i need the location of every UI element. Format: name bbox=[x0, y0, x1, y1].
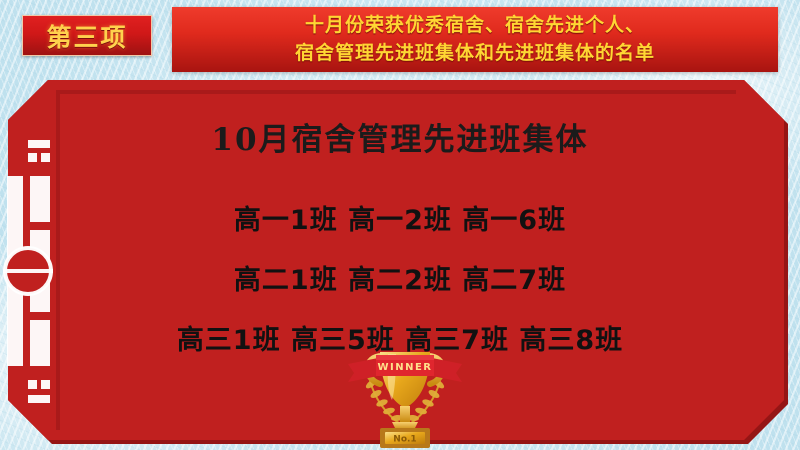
section-badge-label: 第三项 bbox=[46, 18, 127, 54]
trophy-icon: No.1 WINNER bbox=[330, 340, 480, 450]
trophy-plaque-label: No.1 bbox=[393, 435, 416, 445]
class-list: 高一1班 高一2班 高一6班 高二1班 高二2班 高二7班 高三1班 高三5班 … bbox=[62, 198, 738, 357]
header-title-line-2: 宿舍管理先进班集体和先进班集体的名单 bbox=[295, 40, 655, 68]
header-banner: 十月份荣获优秀宿舍、宿舍先进个人、 宿舍管理先进班集体和先进班集体的名单 bbox=[172, 7, 778, 72]
section-badge: 第三项 bbox=[22, 15, 152, 56]
class-row: 高二1班 高二2班 高二7班 bbox=[62, 258, 738, 297]
header-title-line-1: 十月份荣获优秀宿舍、宿舍先进个人、 bbox=[305, 12, 645, 40]
trophy-ribbon-label: WINNER bbox=[377, 362, 432, 373]
class-row: 高一1班 高一2班 高一6班 bbox=[62, 198, 738, 237]
slide-root: 第三项 十月份荣获优秀宿舍、宿舍先进个人、 宿舍管理先进班集体和先进班集体的名单 bbox=[0, 0, 800, 450]
content-heading: 10月宿舍管理先进班集体 bbox=[62, 114, 738, 159]
